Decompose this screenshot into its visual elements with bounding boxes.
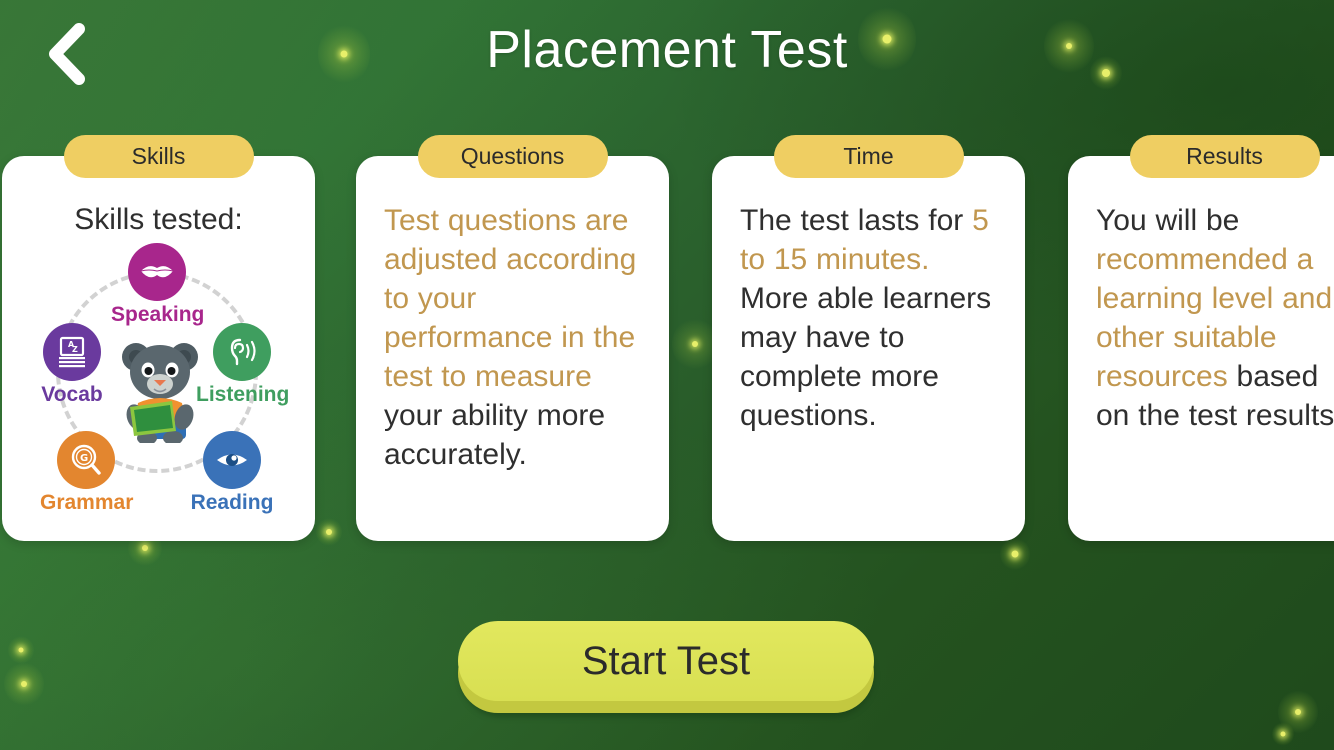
particle [8, 636, 34, 664]
lips-icon [128, 243, 186, 301]
ear-listening-icon [213, 323, 271, 381]
card-body-time: The test lasts for 5 to 15 minutes. More… [740, 201, 997, 525]
plain-text-lead: The test lasts for [740, 204, 972, 237]
magnifier-g-icon: G [57, 431, 115, 489]
svg-text:Z: Z [72, 345, 78, 354]
skill-node-grammar[interactable]: G Grammar [40, 431, 132, 515]
card-tab-time: Time [774, 135, 964, 178]
plain-text-tail: More able learners may have to complete … [740, 282, 991, 432]
card-tab-results: Results [1130, 135, 1320, 178]
skill-label-speaking: Speaking [111, 303, 203, 327]
skill-label-grammar: Grammar [40, 491, 132, 515]
skills-wheel: Speaking A Z [30, 243, 288, 531]
eye-icon [203, 431, 261, 489]
header-bar: Placement Test [0, 0, 1334, 112]
skill-node-speaking[interactable]: Speaking [111, 243, 203, 327]
card-tab-skills: Skills [64, 135, 254, 178]
page-title: Placement Test [0, 20, 1334, 80]
card-time: Time The test lasts for 5 to 15 minutes.… [712, 156, 1025, 541]
placement-test-screen: Placement Test Skills Skills tested: [0, 0, 1334, 750]
skill-label-listening: Listening [196, 383, 288, 407]
card-body-results: You will be recommended a learning level… [1096, 201, 1334, 525]
bear-reading-mascot [114, 339, 206, 443]
card-text-time: The test lasts for 5 to 15 minutes. More… [740, 201, 997, 435]
skill-label-reading: Reading [186, 491, 278, 515]
card-text-results: You will be recommended a learning level… [1096, 201, 1334, 435]
card-body-skills: Skills tested: [30, 201, 287, 525]
skill-label-vocab: Vocab [26, 383, 118, 407]
skills-tested-heading: Skills tested: [30, 203, 287, 237]
card-results: Results You will be recommended a learni… [1068, 156, 1334, 541]
card-questions: Questions Test questions are adjusted ac… [356, 156, 669, 541]
svg-text:G: G [80, 453, 88, 464]
card-skills: Skills Skills tested: [2, 156, 315, 541]
start-test-button-wrap[interactable]: Start Test [458, 621, 876, 717]
particle [1278, 690, 1318, 734]
particle [1272, 722, 1294, 746]
particle [4, 662, 44, 706]
dictionary-book-icon: A Z [43, 323, 101, 381]
plain-text-lead: You will be [1096, 204, 1239, 237]
plain-text: your ability more accurately. [384, 399, 605, 471]
card-body-questions: Test questions are adjusted according to… [384, 201, 641, 525]
start-test-button[interactable]: Start Test [458, 621, 874, 701]
skill-node-vocab[interactable]: A Z Vocab [26, 323, 118, 407]
skill-node-listening[interactable]: Listening [196, 323, 288, 407]
skill-node-reading[interactable]: Reading [186, 431, 278, 515]
card-text-questions: Test questions are adjusted according to… [384, 201, 641, 474]
highlight-text: Test questions are adjusted according to… [384, 204, 636, 393]
card-tab-questions: Questions [418, 135, 608, 178]
info-cards-row: Skills Skills tested: [0, 135, 1334, 545]
